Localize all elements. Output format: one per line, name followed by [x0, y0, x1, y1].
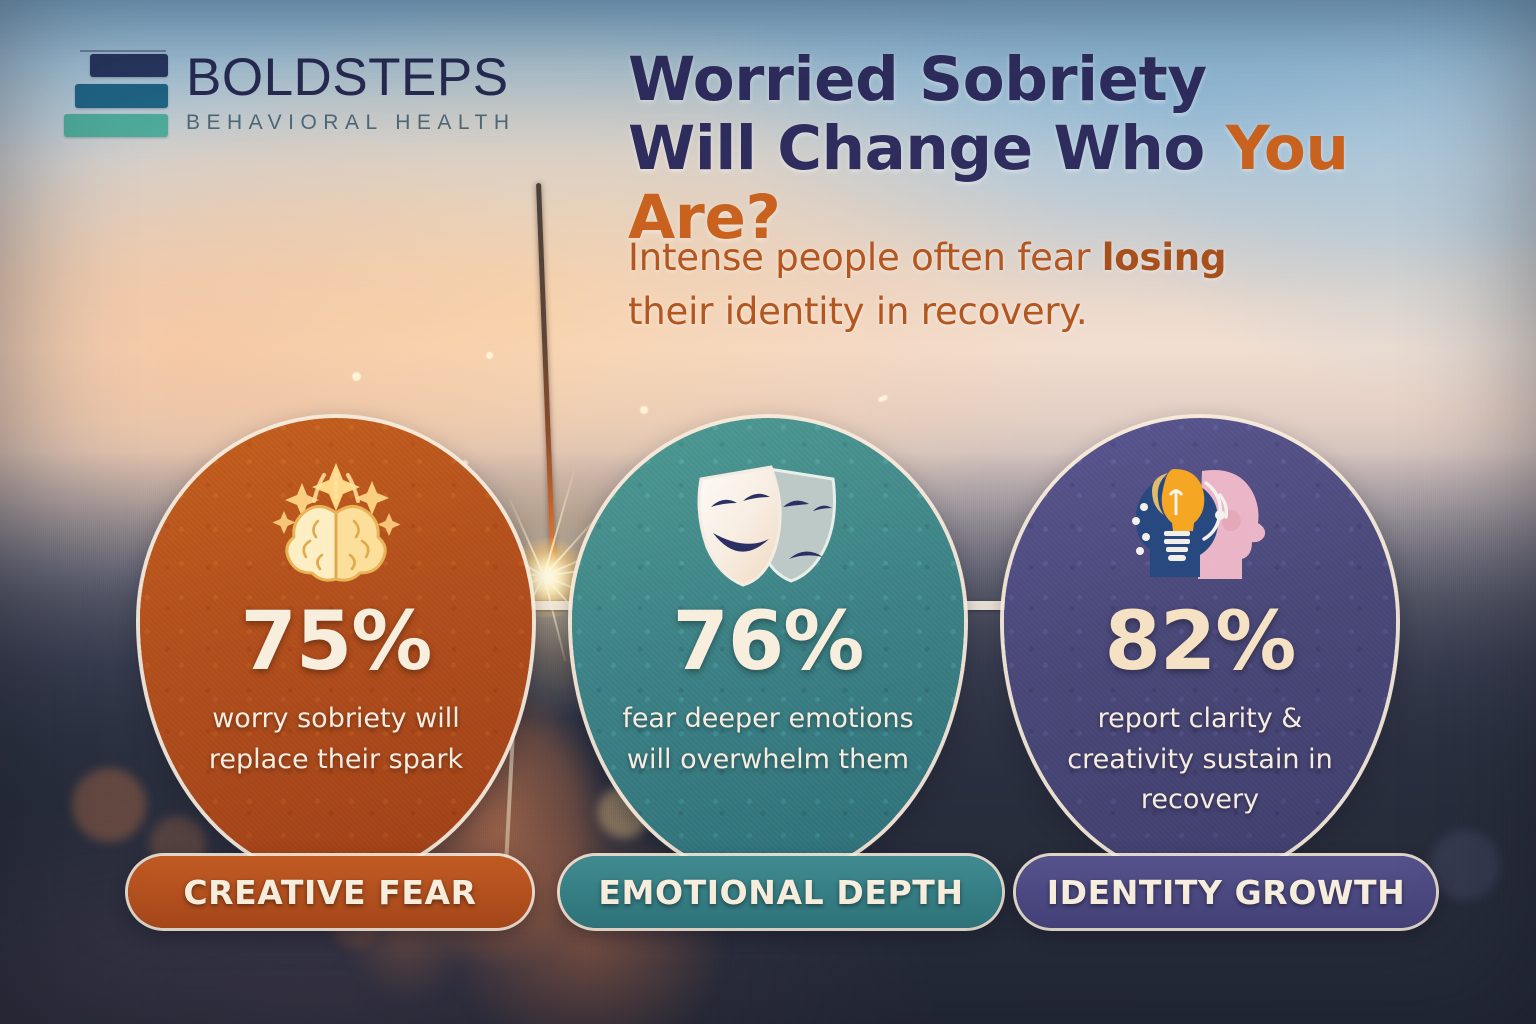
stat-percent: 75%: [241, 602, 432, 683]
stat-card-emotional-depth[interactable]: 76% fear deeper emotions will overwhelm …: [572, 418, 964, 878]
stat-percent: 82%: [1105, 602, 1296, 683]
card-label-text: CREATIVE FEAR: [183, 873, 476, 912]
stat-description: report clarity & creativity sustain in r…: [1035, 699, 1365, 821]
stat-description: worry sobriety will replace their spark: [176, 699, 496, 780]
theater-masks-icon: [683, 452, 853, 598]
brain-with-sparkles-icon: [256, 452, 416, 598]
stat-percent: 76%: [673, 602, 864, 683]
two-heads-lightbulb-icon: [1110, 452, 1290, 598]
stat-card-identity-growth[interactable]: 82% report clarity & creativity sustain …: [1004, 418, 1396, 878]
card-label-identity-growth[interactable]: IDENTITY GROWTH: [1016, 856, 1436, 928]
stat-card-creative-fear[interactable]: 75% worry sobriety will replace their sp…: [140, 418, 532, 878]
card-label-text: EMOTIONAL DEPTH: [598, 873, 963, 912]
card-label-creative-fear[interactable]: CREATIVE FEAR: [128, 856, 532, 928]
infographic-canvas: BOLDSTEPS BEHAVIORAL HEALTH Worried Sobr…: [0, 0, 1536, 1024]
stat-description: fear deeper emotions will overwhelm them: [608, 699, 928, 780]
card-label-text: IDENTITY GROWTH: [1047, 873, 1406, 912]
card-label-emotional-depth[interactable]: EMOTIONAL DEPTH: [560, 856, 1002, 928]
